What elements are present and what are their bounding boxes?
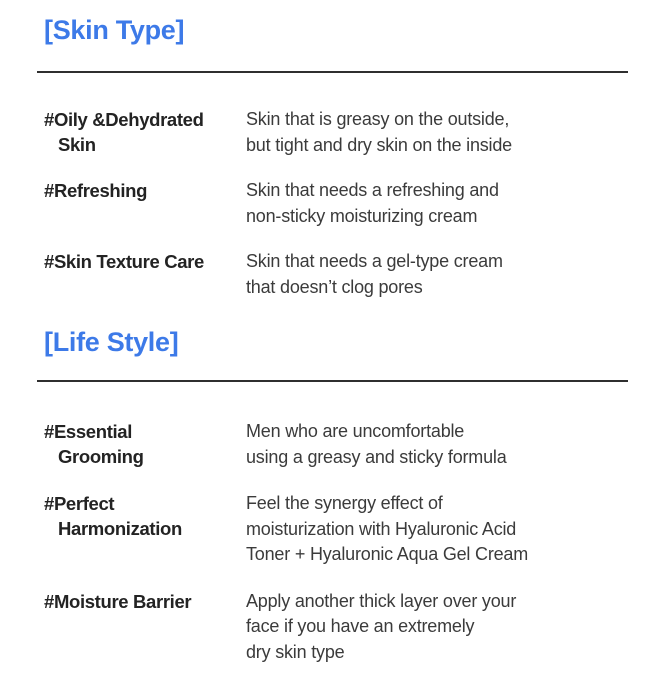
attribute-list-skin-type: #Oily &Dehydrated Skin Skin that is grea… <box>0 107 663 320</box>
description-line: Skin that is greasy on the outside, <box>246 107 653 133</box>
section-heading-life-style: [Life Style] <box>0 328 178 358</box>
table-row: #Perfect Harmonization Feel the synergy … <box>0 491 663 568</box>
row-label-perfect-harmonization: #Perfect Harmonization <box>0 491 246 541</box>
row-description-oily-dehydrated-skin: Skin that is greasy on the outside, but … <box>246 107 663 158</box>
table-row: #Essential Grooming Men who are uncomfor… <box>0 419 663 470</box>
row-label-line: #Refreshing <box>44 180 147 201</box>
description-line: Skin that needs a gel-type cream <box>246 249 653 275</box>
row-description-perfect-harmonization: Feel the synergy effect of moisturizatio… <box>246 491 663 568</box>
description-line: Apply another thick layer over your <box>246 589 653 615</box>
row-description-essential-grooming: Men who are uncomfortable using a greasy… <box>246 419 663 470</box>
row-label-line: #Essential <box>44 421 132 442</box>
row-description-moisture-barrier: Apply another thick layer over your face… <box>246 589 663 666</box>
row-description-skin-texture-care: Skin that needs a gel-type cream that do… <box>246 249 663 300</box>
row-label-oily-dehydrated-skin: #Oily &Dehydrated Skin <box>0 107 246 157</box>
attribute-list-life-style: #Essential Grooming Men who are uncomfor… <box>0 419 663 686</box>
table-row: #Moisture Barrier Apply another thick la… <box>0 589 663 666</box>
info-table-page: [Skin Type] #Oily &Dehydrated Skin Skin … <box>0 0 663 683</box>
row-label-line: #Moisture Barrier <box>44 591 191 612</box>
description-line: non-sticky moisturizing cream <box>246 204 653 230</box>
section-divider-life-style <box>37 380 628 382</box>
table-row: #Oily &Dehydrated Skin Skin that is grea… <box>0 107 663 158</box>
row-label-skin-texture-care: #Skin Texture Care <box>0 249 246 274</box>
description-line: using a greasy and sticky formula <box>246 445 653 471</box>
table-row: #Skin Texture Care Skin that needs a gel… <box>0 249 663 300</box>
row-label-moisture-barrier: #Moisture Barrier <box>0 589 246 614</box>
description-line: moisturization with Hyaluronic Acid <box>246 517 653 543</box>
description-line: dry skin type <box>246 640 653 666</box>
row-label-line: #Skin Texture Care <box>44 251 204 272</box>
row-label-line-continued: Harmonization <box>44 516 246 541</box>
table-row: #Refreshing Skin that needs a refreshing… <box>0 178 663 229</box>
section-divider-skin-type <box>37 71 628 73</box>
row-label-line: #Perfect <box>44 493 114 514</box>
description-line: Skin that needs a refreshing and <box>246 178 653 204</box>
row-label-line: #Oily &Dehydrated <box>44 109 204 130</box>
description-line: but tight and dry skin on the inside <box>246 133 653 159</box>
row-label-line-continued: Grooming <box>44 444 246 469</box>
row-label-essential-grooming: #Essential Grooming <box>0 419 246 469</box>
section-heading-skin-type: [Skin Type] <box>0 16 184 46</box>
row-description-refreshing: Skin that needs a refreshing and non-sti… <box>246 178 663 229</box>
description-line: Men who are uncomfortable <box>246 419 653 445</box>
row-label-refreshing: #Refreshing <box>0 178 246 203</box>
description-line: Toner + Hyaluronic Aqua Gel Cream <box>246 542 653 568</box>
description-line: face if you have an extremely <box>246 614 653 640</box>
description-line: that doesn’t clog pores <box>246 275 653 301</box>
description-line: Feel the synergy effect of <box>246 491 653 517</box>
row-label-line-continued: Skin <box>44 132 246 157</box>
